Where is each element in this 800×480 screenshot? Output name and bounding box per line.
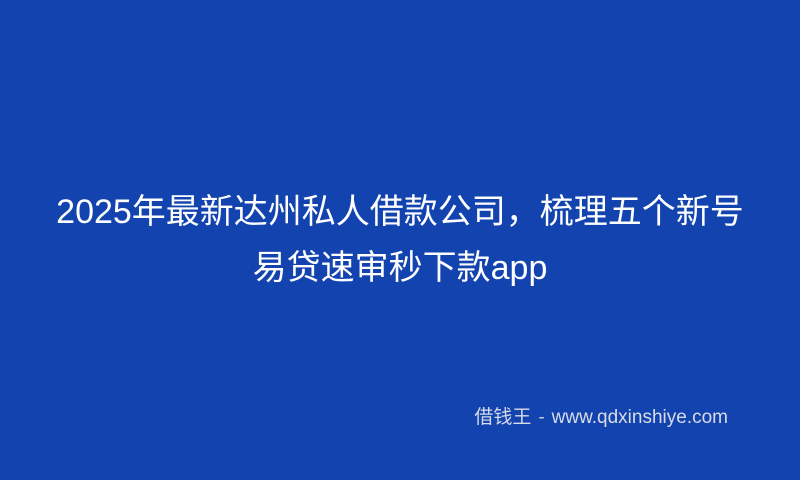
title-card: 2025年最新达州私人借款公司，梳理五个新号易贷速审秒下款app 借钱王 - w…: [0, 0, 800, 480]
watermark-url: www.qdxinshiye.com: [552, 406, 728, 430]
page-title: 2025年最新达州私人借款公司，梳理五个新号易贷速审秒下款app: [56, 184, 744, 296]
watermark: 借钱王 - www.qdxinshiye.com: [0, 406, 800, 430]
watermark-brand: 借钱王: [474, 406, 531, 430]
watermark-separator: -: [538, 406, 544, 430]
